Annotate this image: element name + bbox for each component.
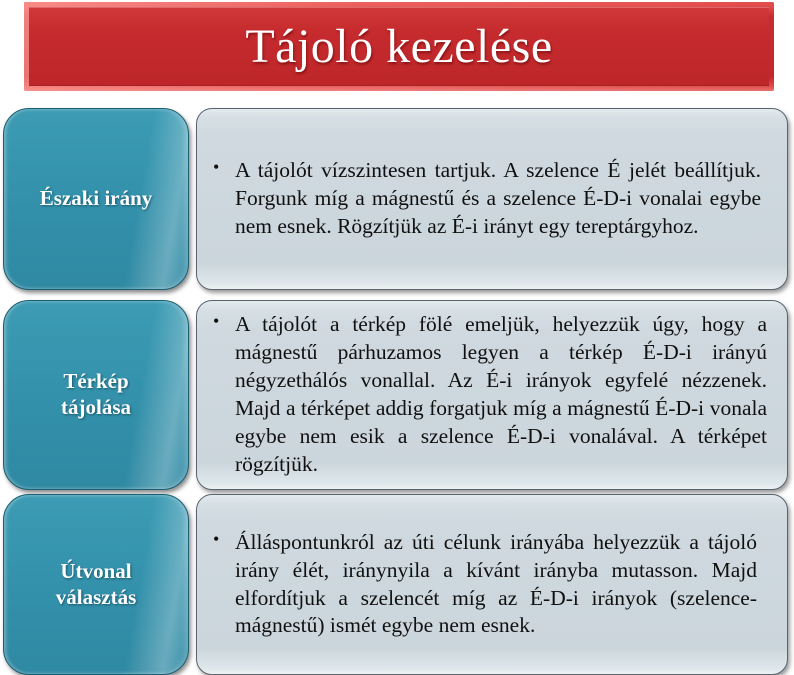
diagram-row-northern-direction: Északi irány A tájolót vízszintesen tart… (0, 108, 794, 290)
label-box-map-orientation[interactable]: Térkép tájolása (3, 300, 189, 490)
bullet-list: A tájolót a térkép fölé emeljük, helyezz… (197, 311, 787, 479)
diagram-row-route-selection: Útvonal választás Álláspontunkról az úti… (0, 494, 794, 675)
label-text: Északi irány (34, 186, 159, 212)
label-box-northern-direction[interactable]: Északi irány (3, 108, 189, 290)
content-panel-map-orientation: A tájolót a térkép fölé emeljük, helyezz… (196, 300, 788, 490)
label-box-route-selection[interactable]: Útvonal választás (3, 494, 189, 675)
label-text: Útvonal választás (50, 559, 143, 610)
bullet-list: Álláspontunkról az úti célunk irányába h… (197, 529, 787, 641)
content-panel-route-selection: Álláspontunkról az úti célunk irányába h… (196, 494, 788, 675)
content-panel-northern-direction: A tájolót vízszintesen tartjuk. A szelen… (196, 108, 788, 290)
diagram-row-map-orientation: Térkép tájolása A tájolót a térkép fölé … (0, 300, 794, 490)
bullet-item: A tájolót vízszintesen tartjuk. A szelen… (235, 157, 761, 241)
title-banner-inner: Tájoló kezelése (29, 7, 769, 86)
bullet-item: A tájolót a térkép fölé emeljük, helyezz… (235, 311, 767, 479)
bullet-list: A tájolót vízszintesen tartjuk. A szelen… (197, 157, 787, 241)
title-banner: Tájoló kezelése (24, 2, 774, 91)
slide-canvas: Tájoló kezelése Északi irány A tájolót v… (0, 0, 794, 675)
page-title: Tájoló kezelése (245, 23, 552, 71)
bullet-item: Álláspontunkról az úti célunk irányába h… (235, 529, 757, 641)
label-text: Térkép tájolása (55, 369, 137, 420)
